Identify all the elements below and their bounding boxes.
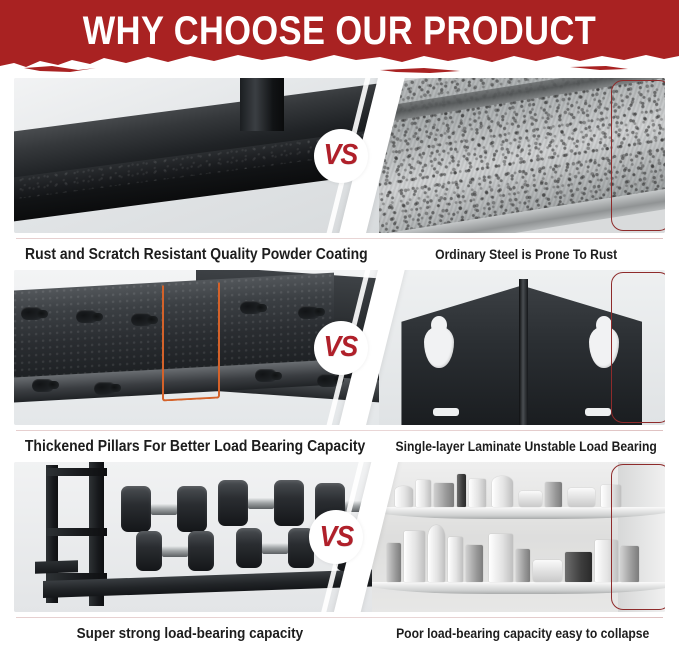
toiletry-item xyxy=(621,546,639,582)
comparison-row-load-capacity: VS Super strong load-bearing capacity Po… xyxy=(0,462,679,649)
caption-competitor-2: Single-layer Laminate Unstable Load Bear… xyxy=(380,439,673,454)
toiletry-item xyxy=(492,476,513,508)
shelf-post-icon xyxy=(240,78,284,131)
toiletry-item xyxy=(457,474,466,507)
keyhole-slot-icon xyxy=(94,382,116,395)
shelf-rail-icon xyxy=(46,528,107,536)
vs-badge-2: VS xyxy=(314,321,368,375)
toiletry-item xyxy=(428,525,446,582)
toiletry-item xyxy=(519,491,542,508)
toiletry-item xyxy=(595,540,618,582)
toiletry-item xyxy=(601,485,622,508)
keyhole-slot-icon xyxy=(32,379,54,392)
caption-product-3: Super strong load-bearing capacity xyxy=(6,625,373,642)
keyhole-slot-icon xyxy=(131,313,153,326)
thickness-highlight xyxy=(162,282,220,401)
dumbbell-icon xyxy=(218,480,304,526)
toiletry-item xyxy=(469,479,487,508)
toiletry-item xyxy=(448,537,463,582)
keyhole-slot-icon xyxy=(317,374,339,387)
caption-competitor-3: Poor load-bearing capacity easy to colla… xyxy=(373,626,673,641)
toiletry-item xyxy=(387,543,402,582)
dumbbell-icon xyxy=(121,486,207,532)
toiletry-item xyxy=(416,480,431,507)
toiletry-item xyxy=(404,531,425,582)
caption-row-1: Rust and Scratch Resistant Quality Powde… xyxy=(0,239,679,270)
toiletry-item xyxy=(545,482,563,508)
dumbbell-icon xyxy=(136,531,214,571)
toiletry-item xyxy=(434,483,455,507)
toiletry-item xyxy=(565,552,591,582)
vs-badge-3: VS xyxy=(309,510,363,564)
keyhole-slot-icon xyxy=(21,307,43,320)
shelf-rail-icon xyxy=(46,468,107,476)
caption-row-3: Super strong load-bearing capacity Poor … xyxy=(0,618,679,649)
bracket-notch-icon xyxy=(433,408,459,416)
bracket-notch-icon xyxy=(585,408,611,416)
toiletry-item xyxy=(568,488,594,508)
toiletry-item xyxy=(489,534,512,582)
infographic-page: WHY CHOOSE OUR PRODUCT xyxy=(0,0,679,663)
comparison-row-thickened-pillars: VS Thickened Pillars For Better Load Bea… xyxy=(0,270,679,462)
competitor-image-single-layer xyxy=(379,270,665,425)
vs-label: VS xyxy=(324,141,358,170)
comparison-images-3: VS xyxy=(14,462,665,612)
competitor-image-rusty-steel xyxy=(379,78,665,233)
keyhole-slot-icon xyxy=(298,306,320,319)
vs-label: VS xyxy=(324,333,358,362)
keyhole-slot-icon xyxy=(240,301,262,314)
page-title-text: WHY CHOOSE OUR PRODUCT xyxy=(83,11,596,51)
header-banner: WHY CHOOSE OUR PRODUCT xyxy=(0,0,679,78)
keyhole-slot-icon xyxy=(76,310,98,323)
comparison-images-1: VS xyxy=(14,78,665,233)
vs-badge-1: VS xyxy=(314,129,368,183)
vs-label: VS xyxy=(319,523,353,552)
bracket-spine xyxy=(519,279,528,425)
caption-product-2: Thickened Pillars For Better Load Bearin… xyxy=(6,438,380,456)
toiletry-item xyxy=(466,545,484,583)
toiletry-item xyxy=(395,486,413,507)
toiletry-item xyxy=(516,549,531,582)
comparison-row-powder-coating: VS Rust and Scratch Resistant Quality Po… xyxy=(0,78,679,270)
comparison-images-2: VS xyxy=(14,270,665,425)
caption-product-1: Rust and Scratch Resistant Quality Powde… xyxy=(6,246,380,264)
shelf-board-lower xyxy=(35,560,78,574)
keyhole-slot-icon xyxy=(255,369,277,382)
dumbbell-icon xyxy=(236,528,314,568)
toiletry-item xyxy=(533,560,562,583)
competitor-image-toiletry-shelf xyxy=(372,462,665,612)
page-title: WHY CHOOSE OUR PRODUCT xyxy=(0,14,679,54)
caption-row-2: Thickened Pillars For Better Load Bearin… xyxy=(0,431,679,462)
caption-competitor-1: Ordinary Steel is Prone To Rust xyxy=(380,247,673,262)
